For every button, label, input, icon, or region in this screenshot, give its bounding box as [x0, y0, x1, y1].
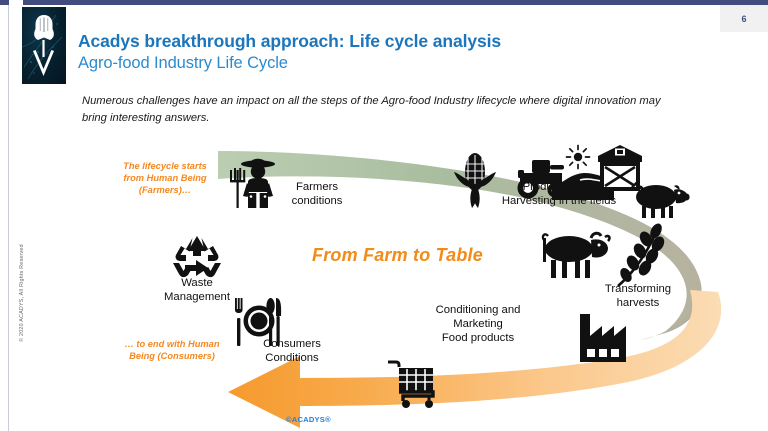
intro-paragraph: Numerous challenges have an impact on al… [82, 93, 682, 127]
stage-label-consumers-conditions: Consumers Conditions [244, 338, 340, 366]
annotation-start: The lifecycle starts from Human Being (F… [113, 160, 217, 196]
annotation-end: … to end with Human Being (Consumers) [124, 338, 220, 362]
stage-label-line: harvests [590, 297, 686, 311]
page-number-badge: 6 [720, 5, 768, 32]
stage-label-conditioning-marketing: Conditioning and Marketing Food products [414, 304, 542, 345]
stage-label-transforming-harvests: Transforming harvests [590, 283, 686, 311]
stage-label-line: Consumers [244, 338, 340, 352]
top-accent-bar-gap [9, 0, 23, 5]
stage-label-line: Harvesting in the fields [479, 195, 639, 209]
stage-label-line: Food products [414, 332, 542, 346]
stage-label-line: Producing and [479, 181, 639, 195]
stage-label-line: Waste [147, 277, 247, 291]
stage-label-line: Conditioning and [414, 304, 542, 318]
center-caption: From Farm to Table [312, 245, 483, 266]
stage-label-line: conditions [272, 195, 362, 209]
stage-label-line: Conditions [244, 352, 340, 366]
acadys-tulip-logo-icon [22, 7, 66, 84]
slide-canvas: 6 © 2020 ACADYS, All Rights Reserved [0, 0, 768, 431]
page-subtitle: Agro-food Industry Life Cycle [78, 54, 288, 73]
stage-label-line: Marketing [414, 318, 542, 332]
stage-label-farmers-conditions: Farmers conditions [272, 181, 362, 209]
stage-label-producing-harvesting: Producing and Harvesting in the fields [479, 181, 639, 209]
top-accent-bar [0, 0, 768, 5]
stage-label-line: Transforming [590, 283, 686, 297]
acadys-watermark: ©ACADYS® [286, 415, 331, 424]
lifecycle-diagram: The lifecycle starts from Human Being (F… [0, 130, 768, 430]
page-title: Acadys breakthrough approach: Life cycle… [78, 31, 501, 52]
stage-label-line: Farmers [272, 181, 362, 195]
stage-label-waste-management: Waste Management [147, 277, 247, 305]
stage-label-line: Management [147, 291, 247, 305]
